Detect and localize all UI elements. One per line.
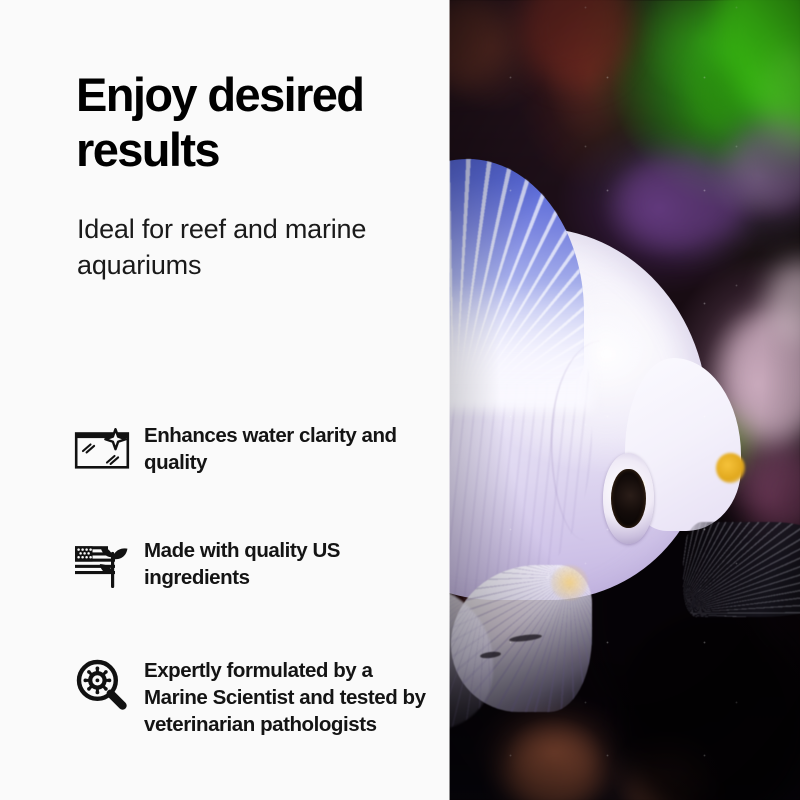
text-panel: Enjoy desired results Ideal for reef and… [0,0,449,800]
fish-eye [603,453,655,544]
page-subtitle: Ideal for reef and marine aquariums [77,212,437,284]
feature-list: Enhances water clarity and quality [0,412,449,787]
us-flag-plant-sprout-icon [74,535,132,593]
fish-subject [449,168,758,600]
fish-lip [716,453,745,483]
white-tang-fish-in-reef-aquarium-photo [449,0,800,800]
feature-item-water-clarity: Enhances water clarity and quality [0,412,449,527]
feature-label: Made with quality US ingredients [132,527,431,591]
product-feature-card: Enjoy desired results Ideal for reef and… [0,0,800,800]
fish-pectoral-base [551,565,588,600]
magnifier-microbe-icon [74,655,132,713]
sparkling-glass-pane-icon [74,420,132,478]
page-title: Enjoy desired results [76,68,446,177]
feature-item-us-ingredients: Made with quality US ingredients [0,527,449,647]
feature-label: Expertly formulated by a Marine Scientis… [132,647,431,738]
feature-label: Enhances water clarity and quality [132,412,431,476]
photo-stage [449,0,800,800]
feature-item-expert-formulation: Expertly formulated by a Marine Scientis… [0,647,449,787]
fish-dark-fin-rays [683,522,800,617]
fish-eye-glint [638,480,645,491]
